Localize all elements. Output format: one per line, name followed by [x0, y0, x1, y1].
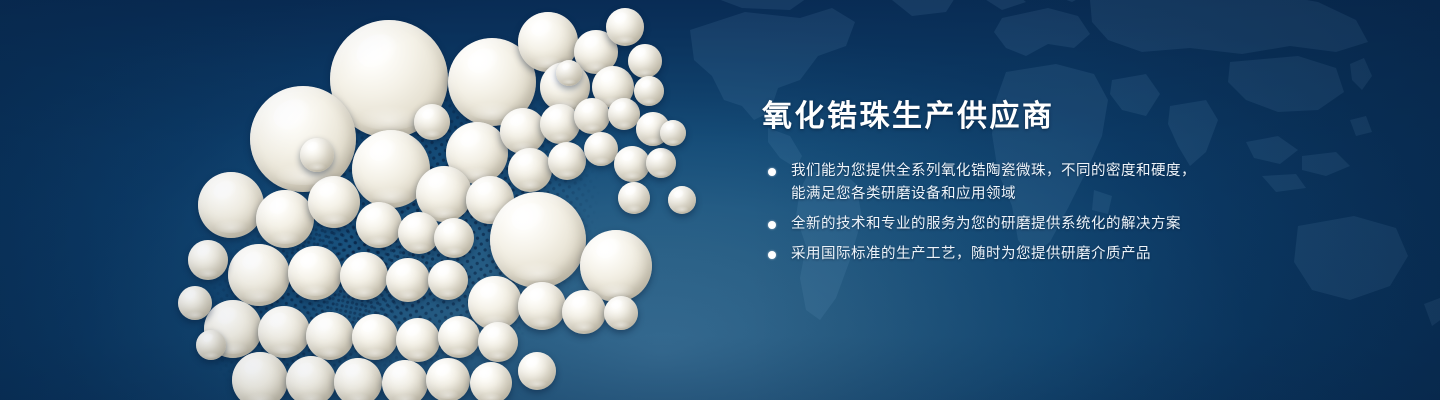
hero-banner: 氧化锆珠生产供应商 我们能为您提供全系列氧化锆陶瓷微珠，不同的密度和硬度， 能满…: [0, 0, 1440, 400]
list-item: 采用国际标准的生产工艺，随时为您提供研磨介质产品: [762, 243, 1282, 266]
list-item-line-1: 采用国际标准的生产工艺，随时为您提供研磨介质产品: [791, 246, 1151, 262]
list-item-line-1: 全新的技术和专业的服务为您的研磨提供系统化的解决方案: [791, 216, 1181, 232]
banner-headline: 氧化锆珠生产供应商: [762, 98, 1282, 136]
banner-copy: 氧化锆珠生产供应商 我们能为您提供全系列氧化锆陶瓷微珠，不同的密度和硬度， 能满…: [762, 98, 1282, 266]
list-item-line-2: 能满足您各类研磨设备和应用领域: [791, 183, 1282, 206]
list-item: 我们能为您提供全系列氧化锆陶瓷微珠，不同的密度和硬度， 能满足您各类研磨设备和应…: [762, 160, 1282, 206]
bullet-dot-icon: [768, 251, 776, 259]
list-item-line-1: 我们能为您提供全系列氧化锆陶瓷微珠，不同的密度和硬度，: [791, 163, 1196, 179]
feature-list: 我们能为您提供全系列氧化锆陶瓷微珠，不同的密度和硬度， 能满足您各类研磨设备和应…: [762, 160, 1282, 266]
bullet-dot-icon: [768, 221, 776, 229]
bullet-dot-icon: [768, 168, 776, 176]
list-item: 全新的技术和专业的服务为您的研磨提供系统化的解决方案: [762, 213, 1282, 236]
